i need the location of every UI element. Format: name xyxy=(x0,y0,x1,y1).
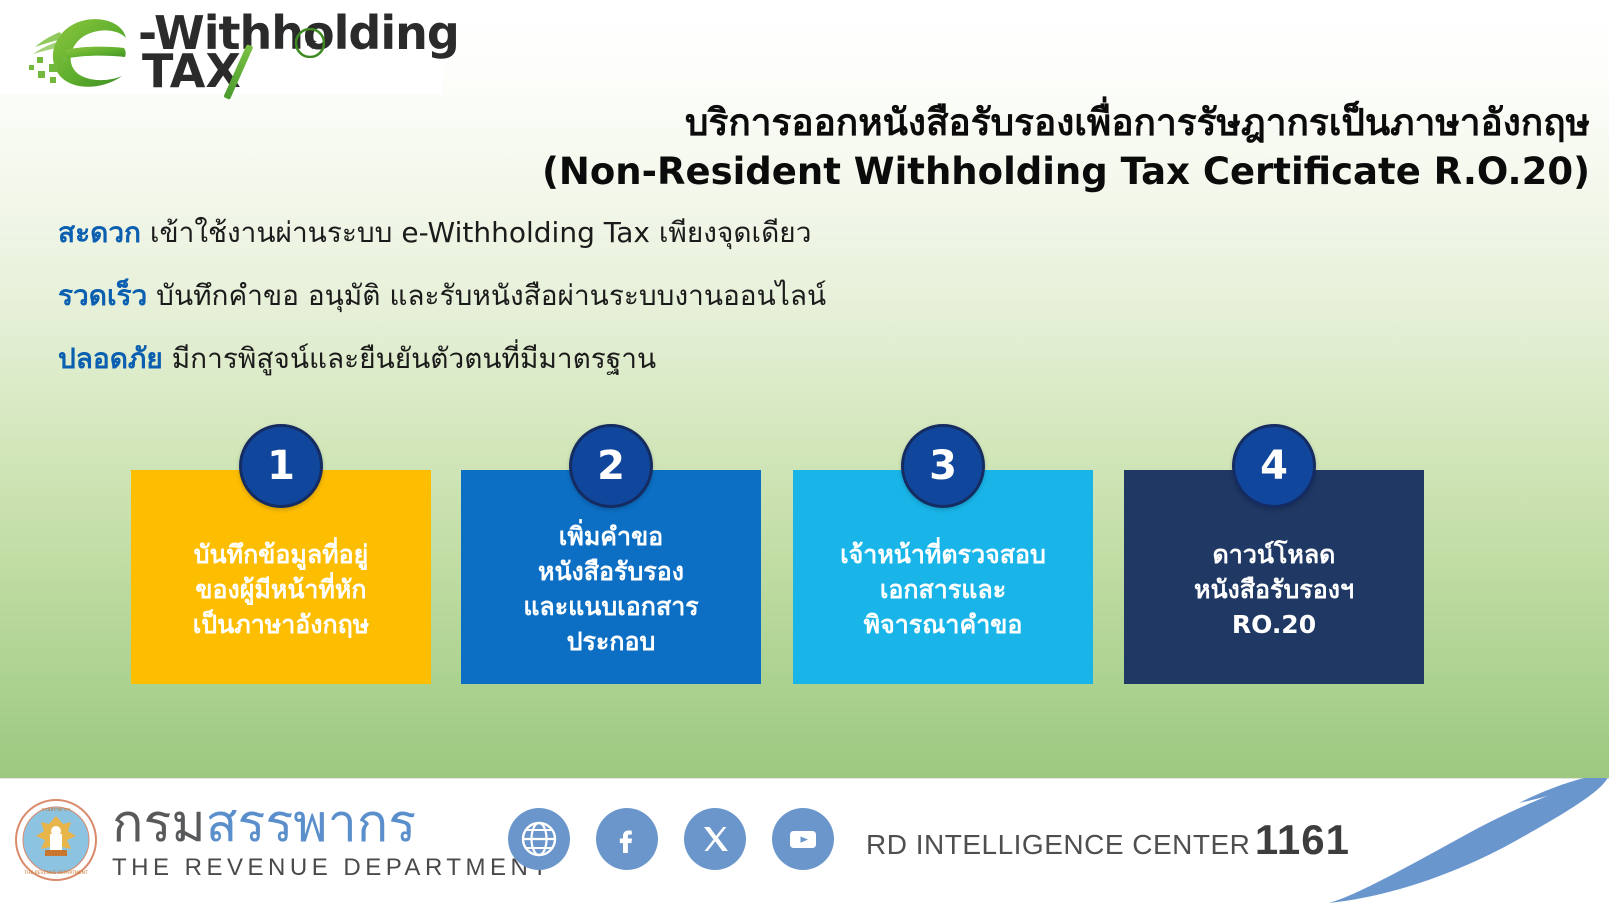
benefit-text-3: มีการพิสูจน์และยืนยันตัวตนที่มีมาตรฐาน xyxy=(163,342,656,375)
facebook-icon[interactable] xyxy=(596,808,658,870)
website-icon[interactable] xyxy=(508,808,570,870)
x-twitter-icon[interactable] xyxy=(684,808,746,870)
benefit-keyword-2: รวดเร็ว xyxy=(58,279,147,312)
benefit-item-2: รวดเร็ว บันทึกคำขอ อนุมัติ และรับหนังสือ… xyxy=(58,279,1258,313)
process-step-3: เจ้าหน้าที่ตรวจสอบ เอกสารและ พิจารณาคำขอ… xyxy=(793,470,1093,684)
revenue-department-wordmark: กรมสรรพากร THE REVENUE DEPARTMENT xyxy=(112,796,552,882)
process-steps: บันทึกข้อมูลที่อยู่ ของผู้มีหน้าที่หัก เ… xyxy=(0,424,1609,690)
benefit-keyword-1: สะดวก xyxy=(58,216,141,249)
step-3-number-badge: 3 xyxy=(901,424,985,508)
rd-intelligence-center: RD INTELLIGENCE CENTER 1161 xyxy=(866,816,1350,864)
dept-name-thai-blue: สรรพากร xyxy=(206,794,417,854)
benefit-keyword-3: ปลอดภัย xyxy=(58,342,163,375)
e-withholding-tax-logo: -Withholding TAX xyxy=(14,4,444,100)
social-links xyxy=(508,808,834,870)
step-1-number-badge: 1 xyxy=(239,424,323,508)
blue-swoosh-decoration xyxy=(1309,778,1609,903)
step-4-number-badge: 4 xyxy=(1232,424,1316,508)
footer-bar: กรมสรรพากร THE REVENUE DEPARTMENT กรมสรร… xyxy=(0,778,1609,903)
step-1-label: บันทึกข้อมูลที่อยู่ ของผู้มีหน้าที่หัก เ… xyxy=(193,537,370,642)
dept-name-thai-gray: กรม xyxy=(112,794,206,854)
pixel-trail-icon xyxy=(28,52,76,86)
benefits-list: สะดวก เข้าใช้งานผ่านระบบ e-Withholding T… xyxy=(58,216,1258,405)
benefit-item-1: สะดวก เข้าใช้งานผ่านระบบ e-Withholding T… xyxy=(58,216,1258,250)
svg-text:กรมสรรพากร: กรมสรรพากร xyxy=(41,807,71,813)
revenue-department-seal-icon: กรมสรรพากร THE REVENUE DEPARTMENT xyxy=(14,798,98,882)
benefit-item-3: ปลอดภัย มีการพิสูจน์และยืนยันตัวตนที่มีม… xyxy=(58,342,1258,376)
touch-cursor-icon xyxy=(295,28,325,58)
rd-intelligence-center-label: RD INTELLIGENCE CENTER xyxy=(866,829,1250,860)
step-4-label: ดาวน์โหลด หนังสือรับรองฯ RO.20 xyxy=(1194,537,1354,642)
process-step-1: บันทึกข้อมูลที่อยู่ ของผู้มีหน้าที่หัก เ… xyxy=(131,470,431,684)
logo-text-line2: TAX xyxy=(142,48,241,94)
process-step-2: เพิ่มคำขอ หนังสือรับรอง และแนบเอกสาร ประ… xyxy=(461,470,761,684)
youtube-icon[interactable] xyxy=(772,808,834,870)
dept-name-thai: กรมสรรพากร xyxy=(112,796,552,852)
step-2-number-badge: 2 xyxy=(569,424,653,508)
benefit-text-2: บันทึกคำขอ อนุมัติ และรับหนังสือผ่านระบบ… xyxy=(147,279,826,312)
step-2-label: เพิ่มคำขอ หนังสือรับรอง และแนบเอกสาร ประ… xyxy=(523,519,698,659)
title-english: (Non-Resident Withholding Tax Certificat… xyxy=(300,148,1590,195)
page-title: บริการออกหนังสือรับรองเพื่อการรัษฎากรเป็… xyxy=(300,100,1590,195)
process-step-4: ดาวน์โหลด หนังสือรับรองฯ RO.20 4 xyxy=(1124,470,1424,684)
dept-name-english: THE REVENUE DEPARTMENT xyxy=(112,854,552,882)
infographic-poster: -Withholding TAX บริการออกหนังสือรับรองเ… xyxy=(0,0,1609,903)
title-thai: บริการออกหนังสือรับรองเพื่อการรัษฎากรเป็… xyxy=(300,100,1590,146)
benefit-text-1: เข้าใช้งานผ่านระบบ e-Withholding Tax เพี… xyxy=(141,216,811,249)
step-3-label: เจ้าหน้าที่ตรวจสอบ เอกสารและ พิจารณาคำขอ xyxy=(840,537,1046,642)
svg-text:THE REVENUE DEPARTMENT: THE REVENUE DEPARTMENT xyxy=(23,870,88,876)
